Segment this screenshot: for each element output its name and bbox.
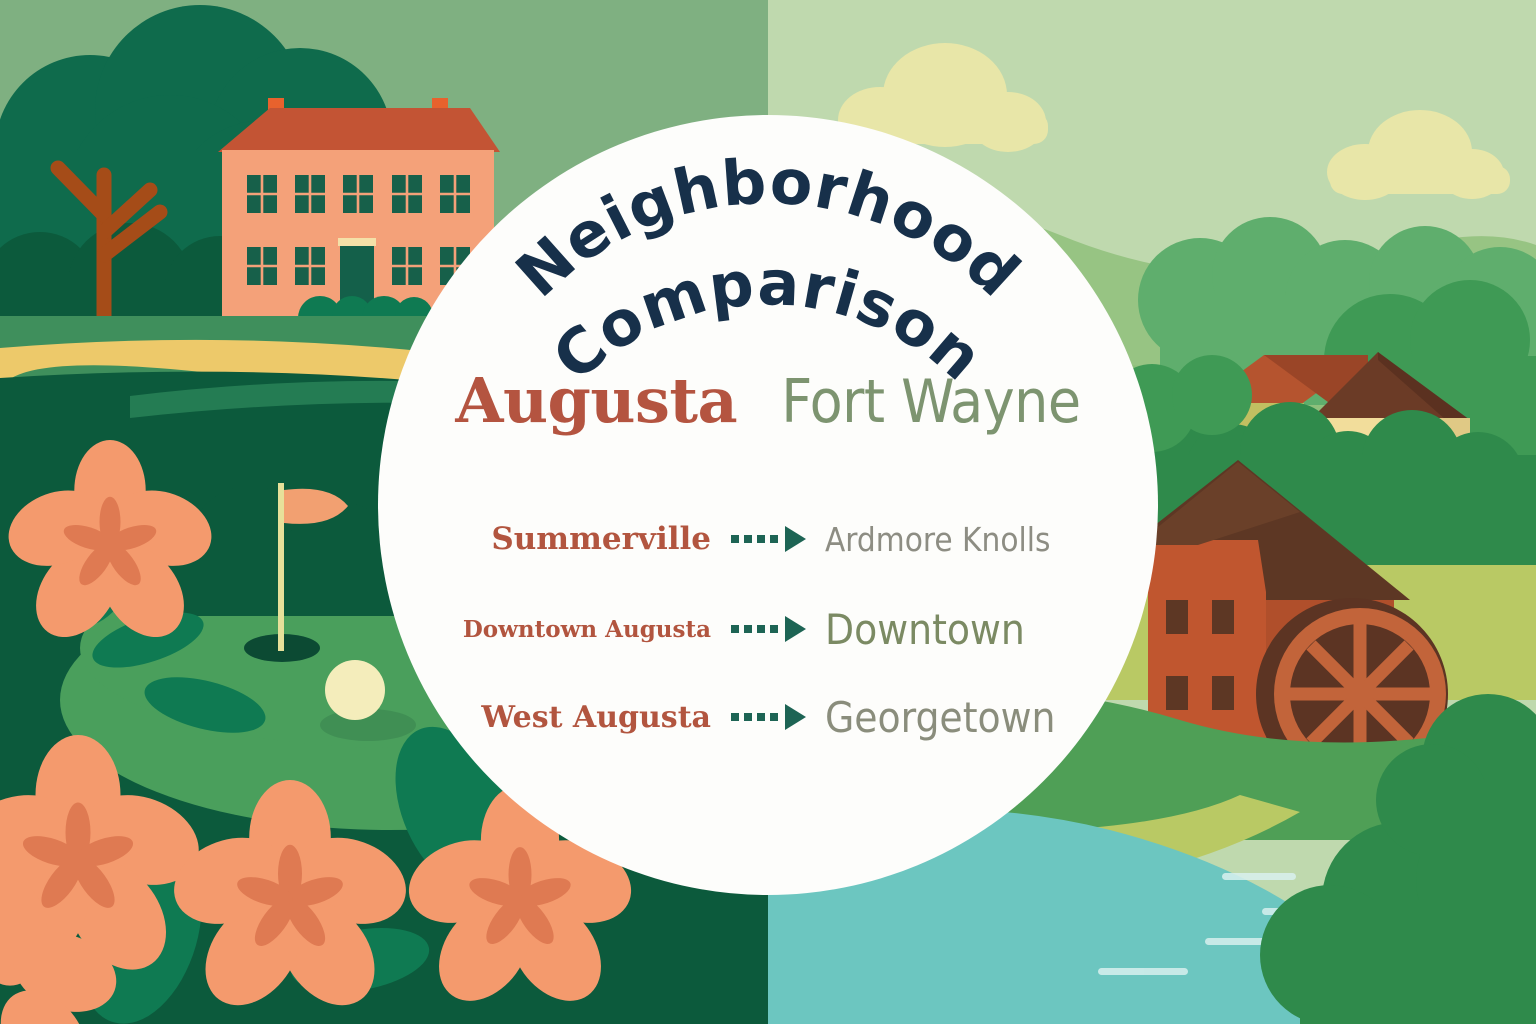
neighborhood-right: Ardmore Knolls (811, 520, 1157, 559)
comparison-row: Downtown Augusta Downtown (378, 585, 1158, 673)
illustration-card: Neighborhood Comparison Augusta Fort Way… (0, 0, 1536, 1024)
neighborhood-right: Downtown (811, 605, 1157, 654)
neighborhood-left: Downtown Augusta (379, 616, 725, 643)
city-headline-row: Augusta Fort Wayne (378, 370, 1158, 432)
comparison-card: Neighborhood Comparison Augusta Fort Way… (378, 115, 1158, 895)
comparison-row: Summerville Ardmore Knolls (378, 493, 1158, 585)
neighborhood-right: Georgetown (811, 693, 1157, 742)
dotted-arrow-right-icon (725, 704, 811, 730)
comparison-row: West Augusta Georgetown (378, 673, 1158, 761)
neighborhood-left: Summerville (379, 521, 725, 557)
city-name-right: Fort Wayne (781, 372, 1080, 432)
dotted-arrow-right-icon (725, 616, 811, 642)
dotted-arrow-right-icon (725, 526, 811, 552)
comparison-rows: Summerville Ardmore Knolls Downtown Augu… (378, 493, 1158, 761)
wheel-hub (1346, 680, 1374, 708)
city-name-left: Augusta (455, 370, 737, 432)
neighborhood-left: West Augusta (379, 700, 725, 735)
